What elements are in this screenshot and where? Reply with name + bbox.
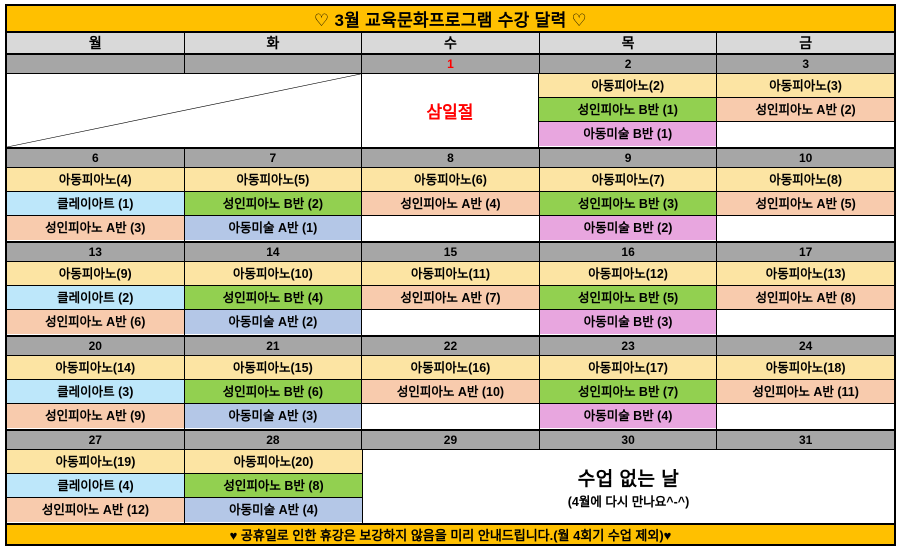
date-cell-23[interactable]: 23 bbox=[540, 337, 718, 355]
calendar-table: ♡ 3월 교육문화프로그램 수강 달력 ♡ 월 화 수 목 금 1 2 3 bbox=[5, 4, 896, 546]
event-item[interactable]: 성인피아노 A반 (12) bbox=[7, 498, 184, 522]
calendar-week-2: 6 7 8 9 10 아동피아노(4) 클레이아트 (1) 성인피아노 A반 (… bbox=[7, 149, 894, 243]
event-item[interactable]: 성인피아노 B반 (5) bbox=[540, 286, 717, 310]
footer-note: ♥ 공휴일로 인한 휴강은 보강하지 않음을 미리 안내드립니다.(월 4회기 … bbox=[230, 525, 672, 544]
date-cell-9[interactable]: 9 bbox=[540, 149, 718, 167]
day-cell-15: 아동피아노(11) 성인피아노 A반 (7) bbox=[362, 262, 540, 335]
date-cell-6[interactable]: 6 bbox=[7, 149, 185, 167]
event-item[interactable]: 성인피아노 B반 (3) bbox=[540, 192, 717, 216]
body-row-week-4: 아동피아노(14) 클레이아트 (3) 성인피아노 A반 (9) 아동피아노(1… bbox=[7, 356, 894, 429]
event-slot-empty bbox=[717, 216, 894, 240]
body-row-week-3: 아동피아노(9) 클레이아트 (2) 성인피아노 A반 (6) 아동피아노(10… bbox=[7, 262, 894, 335]
event-item[interactable]: 아동미술 B반 (1) bbox=[539, 122, 716, 146]
event-item[interactable]: 성인피아노 B반 (6) bbox=[185, 380, 362, 404]
day-cell-28: 아동피아노(20) 성인피아노 B반 (8) 아동미술 A반 (4) bbox=[185, 450, 363, 523]
event-item[interactable]: 성인피아노 B반 (1) bbox=[539, 98, 716, 122]
day-cell-21: 아동피아노(15) 성인피아노 B반 (6) 아동미술 A반 (3) bbox=[185, 356, 363, 429]
calendar-week-4: 20 21 22 23 24 아동피아노(14) 클레이아트 (3) 성인피아노… bbox=[7, 337, 894, 431]
day-cell-17: 아동피아노(13) 성인피아노 A반 (8) bbox=[717, 262, 894, 335]
day-cell-13: 아동피아노(9) 클레이아트 (2) 성인피아노 A반 (6) bbox=[7, 262, 185, 335]
event-slot-empty bbox=[717, 404, 894, 428]
date-cell-10[interactable]: 10 bbox=[717, 149, 894, 167]
event-slot-empty bbox=[717, 310, 894, 334]
body-row-week-2: 아동피아노(4) 클레이아트 (1) 성인피아노 A반 (3) 아동피아노(5)… bbox=[7, 168, 894, 241]
event-item[interactable]: 성인피아노 A반 (11) bbox=[717, 380, 894, 404]
day-cell-8: 아동피아노(6) 성인피아노 A반 (4) bbox=[362, 168, 540, 241]
day-cell-23: 아동피아노(17) 성인피아노 B반 (7) 아동미술 B반 (4) bbox=[540, 356, 718, 429]
body-row-week-5: 아동피아노(19) 클레이아트 (4) 성인피아노 A반 (12) 아동피아노(… bbox=[7, 450, 894, 523]
day-cell-empty-merged bbox=[7, 74, 362, 147]
page-title: ♡ 3월 교육문화프로그램 수강 달력 ♡ bbox=[314, 6, 587, 31]
event-item[interactable]: 클레이아트 (1) bbox=[7, 192, 184, 216]
calendar-title-bar: ♡ 3월 교육문화프로그램 수강 달력 ♡ bbox=[7, 6, 894, 33]
date-cell-blank-1 bbox=[7, 55, 185, 73]
date-cell-2[interactable]: 2 bbox=[540, 55, 718, 73]
event-item[interactable]: 아동피아노(8) bbox=[717, 168, 894, 192]
body-row-week-1: 삼일절 아동피아노(2) 성인피아노 B반 (1) 아동미술 B반 (1) 아동… bbox=[7, 74, 894, 147]
calendar-footer-bar: ♥ 공휴일로 인한 휴강은 보강하지 않음을 미리 안내드립니다.(월 4회기 … bbox=[7, 525, 894, 544]
date-cell-13[interactable]: 13 bbox=[7, 243, 185, 261]
calendar-week-1: 1 2 3 삼일절 아동피아노(2) 성인피아노 B반 (1 bbox=[7, 55, 894, 149]
date-cell-29[interactable]: 29 bbox=[362, 431, 540, 449]
event-item[interactable]: 아동미술 A반 (1) bbox=[185, 216, 362, 240]
event-item[interactable]: 아동피아노(9) bbox=[7, 262, 184, 286]
event-item[interactable]: 아동피아노(5) bbox=[185, 168, 362, 192]
event-item[interactable]: 성인피아노 A반 (2) bbox=[717, 98, 894, 122]
day-cell-24: 아동피아노(18) 성인피아노 A반 (11) bbox=[717, 356, 894, 429]
diagonal-strike-icon bbox=[7, 74, 361, 147]
event-item[interactable]: 아동미술 B반 (3) bbox=[540, 310, 717, 334]
event-slot-empty bbox=[362, 310, 539, 334]
event-item[interactable]: 성인피아노 A반 (9) bbox=[7, 404, 184, 428]
no-class-label: 수업 없는 날 bbox=[578, 464, 679, 491]
day-cell-14: 아동피아노(10) 성인피아노 B반 (4) 아동미술 A반 (2) bbox=[185, 262, 363, 335]
date-cell-28[interactable]: 28 bbox=[185, 431, 363, 449]
date-cell-15[interactable]: 15 bbox=[362, 243, 540, 261]
date-row-week-3: 13 14 15 16 17 bbox=[7, 243, 894, 262]
event-item[interactable]: 아동피아노(2) bbox=[539, 74, 716, 98]
event-item[interactable]: 성인피아노 B반 (8) bbox=[185, 474, 362, 498]
event-item[interactable]: 아동피아노(3) bbox=[717, 74, 894, 98]
date-row-week-4: 20 21 22 23 24 bbox=[7, 337, 894, 356]
event-item[interactable]: 아동피아노(12) bbox=[540, 262, 717, 286]
date-row-week-2: 6 7 8 9 10 bbox=[7, 149, 894, 168]
weekday-header-tue: 화 bbox=[185, 33, 363, 53]
day-cell-3: 아동피아노(3) 성인피아노 A반 (2) bbox=[717, 74, 894, 147]
weekday-header-wed: 수 bbox=[362, 33, 540, 53]
date-cell-blank-2 bbox=[185, 55, 363, 73]
event-item[interactable]: 성인피아노 A반 (10) bbox=[362, 380, 539, 404]
date-cell-16[interactable]: 16 bbox=[540, 243, 718, 261]
event-slot-empty bbox=[362, 404, 539, 428]
event-item[interactable]: 성인피아노 A반 (3) bbox=[7, 216, 184, 240]
event-item[interactable]: 성인피아노 B반 (2) bbox=[185, 192, 362, 216]
date-cell-27[interactable]: 27 bbox=[7, 431, 185, 449]
event-item[interactable]: 아동피아노(6) bbox=[362, 168, 539, 192]
event-item[interactable]: 아동피아노(13) bbox=[717, 262, 894, 286]
date-cell-20[interactable]: 20 bbox=[7, 337, 185, 355]
date-cell-3[interactable]: 3 bbox=[717, 55, 894, 73]
day-cell-9: 아동피아노(7) 성인피아노 B반 (3) 아동미술 B반 (2) bbox=[540, 168, 718, 241]
event-item[interactable]: 아동미술 A반 (2) bbox=[185, 310, 362, 334]
weekday-header-fri: 금 bbox=[717, 33, 894, 53]
calendar-week-5: 27 28 29 30 31 아동피아노(19) 클레이아트 (4) 성인피아노… bbox=[7, 431, 894, 525]
event-item[interactable]: 클레이아트 (2) bbox=[7, 286, 184, 310]
event-item[interactable]: 아동피아노(17) bbox=[540, 356, 717, 380]
day-cell-16: 아동피아노(12) 성인피아노 B반 (5) 아동미술 B반 (3) bbox=[540, 262, 718, 335]
date-cell-22[interactable]: 22 bbox=[362, 337, 540, 355]
calendar-weeks: 1 2 3 삼일절 아동피아노(2) 성인피아노 B반 (1 bbox=[7, 55, 894, 525]
event-slot-empty bbox=[717, 122, 894, 146]
event-item[interactable]: 아동미술 A반 (3) bbox=[185, 404, 362, 428]
event-item[interactable]: 아동피아노(15) bbox=[185, 356, 362, 380]
date-cell-7[interactable]: 7 bbox=[185, 149, 363, 167]
event-item[interactable]: 성인피아노 B반 (4) bbox=[185, 286, 362, 310]
event-item[interactable]: 성인피아노 A반 (4) bbox=[362, 192, 539, 216]
event-item[interactable]: 성인피아노 A반 (5) bbox=[717, 192, 894, 216]
day-cell-27: 아동피아노(19) 클레이아트 (4) 성인피아노 A반 (12) bbox=[7, 450, 185, 523]
holiday-label-samiljeol: 삼일절 bbox=[427, 98, 474, 123]
date-cell-14[interactable]: 14 bbox=[185, 243, 363, 261]
weekday-header-thu: 목 bbox=[540, 33, 718, 53]
date-cell-1[interactable]: 1 bbox=[362, 55, 540, 73]
event-slot-empty bbox=[362, 216, 539, 240]
day-cell-22: 아동피아노(16) 성인피아노 A반 (10) bbox=[362, 356, 540, 429]
event-item[interactable]: 성인피아노 A반 (6) bbox=[7, 310, 184, 334]
event-item[interactable]: 아동미술 B반 (2) bbox=[540, 216, 717, 240]
no-class-subnote: (4월에 다시 만나요^-^) bbox=[568, 491, 690, 510]
event-item[interactable]: 아동피아노(4) bbox=[7, 168, 184, 192]
event-item[interactable]: 아동피아노(19) bbox=[7, 450, 184, 474]
date-cell-17[interactable]: 17 bbox=[717, 243, 894, 261]
day-cell-10: 아동피아노(8) 성인피아노 A반 (5) bbox=[717, 168, 894, 241]
date-row-week-5: 27 28 29 30 31 bbox=[7, 431, 894, 450]
calendar-page: ♡ 3월 교육문화프로그램 수강 달력 ♡ 월 화 수 목 금 1 2 3 bbox=[0, 0, 901, 551]
date-cell-21[interactable]: 21 bbox=[185, 337, 363, 355]
date-cell-24[interactable]: 24 bbox=[717, 337, 894, 355]
event-item[interactable]: 아동피아노(20) bbox=[185, 450, 362, 474]
day-cell-1-holiday: 삼일절 bbox=[362, 74, 540, 147]
event-item[interactable]: 성인피아노 B반 (7) bbox=[540, 380, 717, 404]
calendar-week-3: 13 14 15 16 17 아동피아노(9) 클레이아트 (2) 성인피아노 … bbox=[7, 243, 894, 337]
event-item[interactable]: 성인피아노 A반 (7) bbox=[362, 286, 539, 310]
event-item[interactable]: 성인피아노 A반 (8) bbox=[717, 286, 894, 310]
day-cell-7: 아동피아노(5) 성인피아노 B반 (2) 아동미술 A반 (1) bbox=[185, 168, 363, 241]
event-item[interactable]: 아동미술 A반 (4) bbox=[185, 498, 362, 522]
event-item[interactable]: 아동피아노(11) bbox=[362, 262, 539, 286]
date-cell-8[interactable]: 8 bbox=[362, 149, 540, 167]
weekday-header-mon: 월 bbox=[7, 33, 185, 53]
event-item[interactable]: 아동피아노(14) bbox=[7, 356, 184, 380]
event-item[interactable]: 클레이아트 (3) bbox=[7, 380, 184, 404]
date-cell-31[interactable]: 31 bbox=[717, 431, 894, 449]
event-item[interactable]: 아동피아노(16) bbox=[362, 356, 539, 380]
date-cell-30[interactable]: 30 bbox=[540, 431, 718, 449]
event-item[interactable]: 아동미술 B반 (4) bbox=[540, 404, 717, 428]
event-item[interactable]: 아동피아노(18) bbox=[717, 356, 894, 380]
day-cell-2: 아동피아노(2) 성인피아노 B반 (1) 아동미술 B반 (1) bbox=[539, 74, 717, 147]
day-cell-6: 아동피아노(4) 클레이아트 (1) 성인피아노 A반 (3) bbox=[7, 168, 185, 241]
date-row-week-1: 1 2 3 bbox=[7, 55, 894, 74]
event-item[interactable]: 아동피아노(7) bbox=[540, 168, 717, 192]
weekday-header-row: 월 화 수 목 금 bbox=[7, 33, 894, 55]
day-cell-20: 아동피아노(14) 클레이아트 (3) 성인피아노 A반 (9) bbox=[7, 356, 185, 429]
no-class-notice-cell: 수업 없는 날(4월에 다시 만나요^-^) bbox=[363, 450, 894, 523]
event-item[interactable]: 클레이아트 (4) bbox=[7, 474, 184, 498]
event-item[interactable]: 아동피아노(10) bbox=[185, 262, 362, 286]
